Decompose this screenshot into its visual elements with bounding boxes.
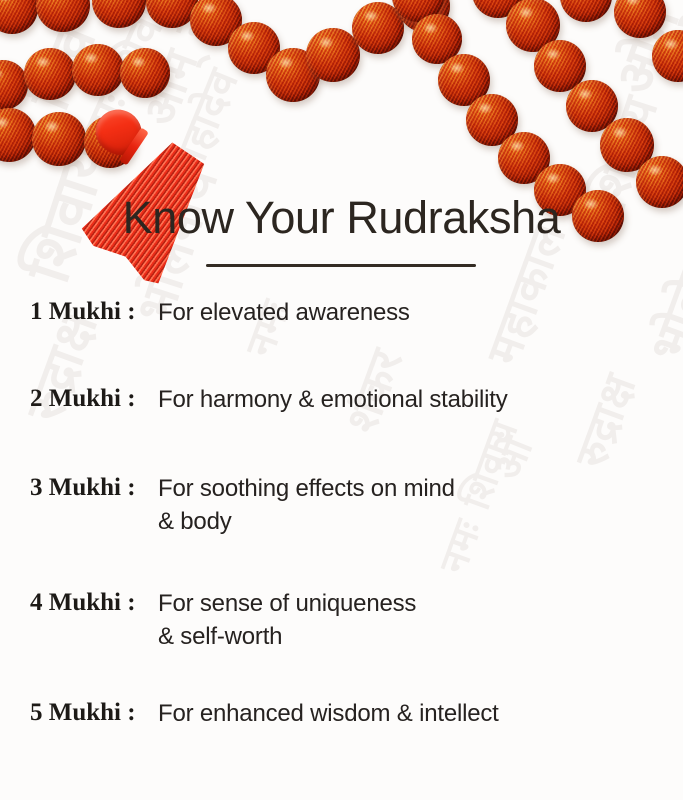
mukhi-description: For harmony & emotional stability: [158, 383, 683, 416]
mukhi-list: 1 Mukhi : For elevated awareness 2 Mukhi…: [0, 296, 683, 757]
mukhi-description: For sense of uniqueness & self-worth: [158, 587, 683, 653]
title-divider: [206, 264, 476, 267]
page-title: Know Your Rudraksha: [0, 193, 683, 243]
mukhi-description-line1: For enhanced wisdom & intellect: [158, 700, 499, 727]
list-item: 2 Mukhi : For harmony & emotional stabil…: [0, 383, 683, 472]
mukhi-description-line2: & self-worth: [158, 620, 683, 653]
mukhi-description: For soothing effects on mind & body: [158, 472, 683, 538]
mukhi-description-line2: & body: [158, 505, 683, 538]
mukhi-description-line1: For elevated awareness: [158, 299, 410, 326]
mukhi-label: 5 Mukhi :: [0, 697, 158, 729]
list-item: 4 Mukhi : For sense of uniqueness & self…: [0, 587, 683, 697]
infographic-page: शिव शिवाय रुद्राक्ष नमः शिवाय ओम् नमः भो…: [0, 0, 683, 800]
mukhi-description: For enhanced wisdom & intellect: [158, 697, 683, 730]
list-item: 1 Mukhi : For elevated awareness: [0, 296, 683, 383]
content-area: Know Your Rudraksha 1 Mukhi : For elevat…: [0, 0, 683, 800]
mukhi-description: For elevated awareness: [158, 296, 683, 329]
mukhi-label: 3 Mukhi :: [0, 472, 158, 504]
mukhi-label: 1 Mukhi :: [0, 296, 158, 328]
list-item: 5 Mukhi : For enhanced wisdom & intellec…: [0, 697, 683, 757]
mukhi-description-line1: For soothing effects on mind: [158, 475, 455, 502]
mukhi-description-line1: For sense of uniqueness: [158, 590, 416, 617]
mukhi-label: 2 Mukhi :: [0, 383, 158, 415]
list-item: 3 Mukhi : For soothing effects on mind &…: [0, 472, 683, 587]
mukhi-description-line1: For harmony & emotional stability: [158, 386, 508, 413]
mukhi-label: 4 Mukhi :: [0, 587, 158, 619]
